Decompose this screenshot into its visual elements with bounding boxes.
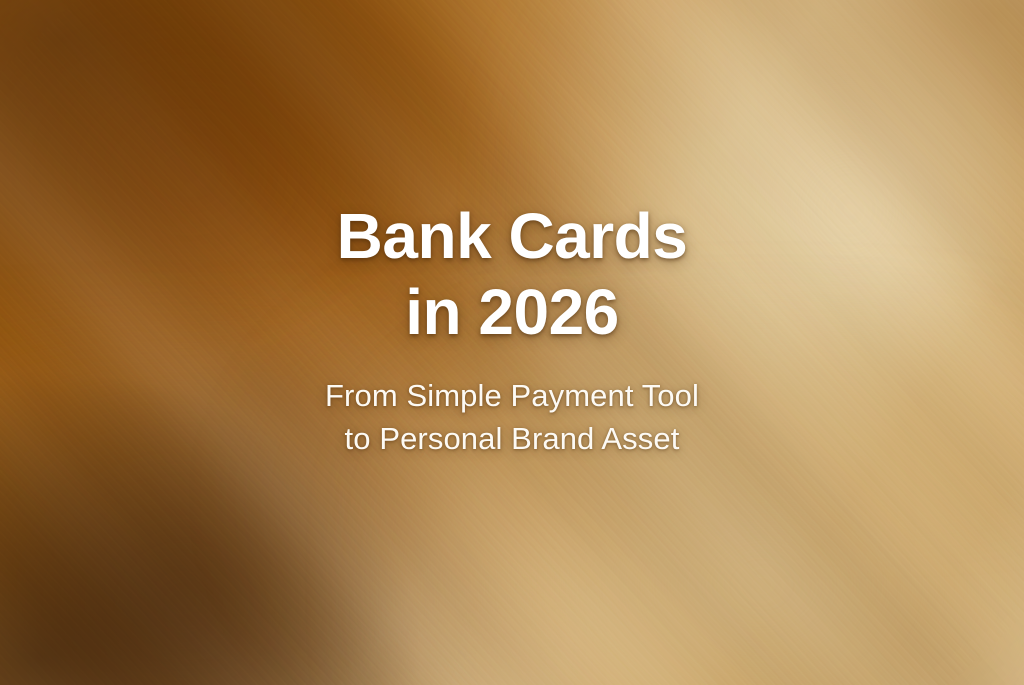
page-subtitle-line-2: to Personal Brand Asset bbox=[325, 417, 699, 460]
title-card: Bank Cards in 2026 From Simple Payment T… bbox=[0, 0, 1024, 685]
page-title-line-1: Bank Cards bbox=[337, 198, 688, 274]
page-subtitle-line-1: From Simple Payment Tool bbox=[325, 374, 699, 417]
page-subtitle: From Simple Payment Tool to Personal Bra… bbox=[325, 374, 699, 460]
page-title-line-2: in 2026 bbox=[337, 274, 688, 350]
page-title: Bank Cards in 2026 bbox=[337, 0, 688, 350]
text-block: Bank Cards in 2026 From Simple Payment T… bbox=[0, 0, 1024, 685]
